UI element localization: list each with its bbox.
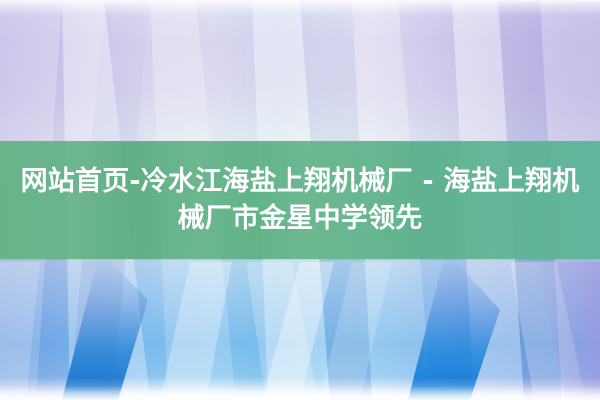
promo-banner: 网站首页-冷水江海盐上翔机械厂 - 海盐上翔机 械厂市金星中学领先 — [0, 0, 600, 400]
headline-line-2: 械厂市金星中学领先 — [178, 200, 423, 237]
headline-text-block: 网站首页-冷水江海盐上翔机械厂 - 海盐上翔机 械厂市金星中学领先 — [0, 141, 600, 259]
bottom-edge-fade — [0, 378, 600, 400]
headline-line-1: 网站首页-冷水江海盐上翔机械厂 - 海盐上翔机 — [21, 163, 580, 200]
top-edge-fade — [0, 0, 600, 16]
